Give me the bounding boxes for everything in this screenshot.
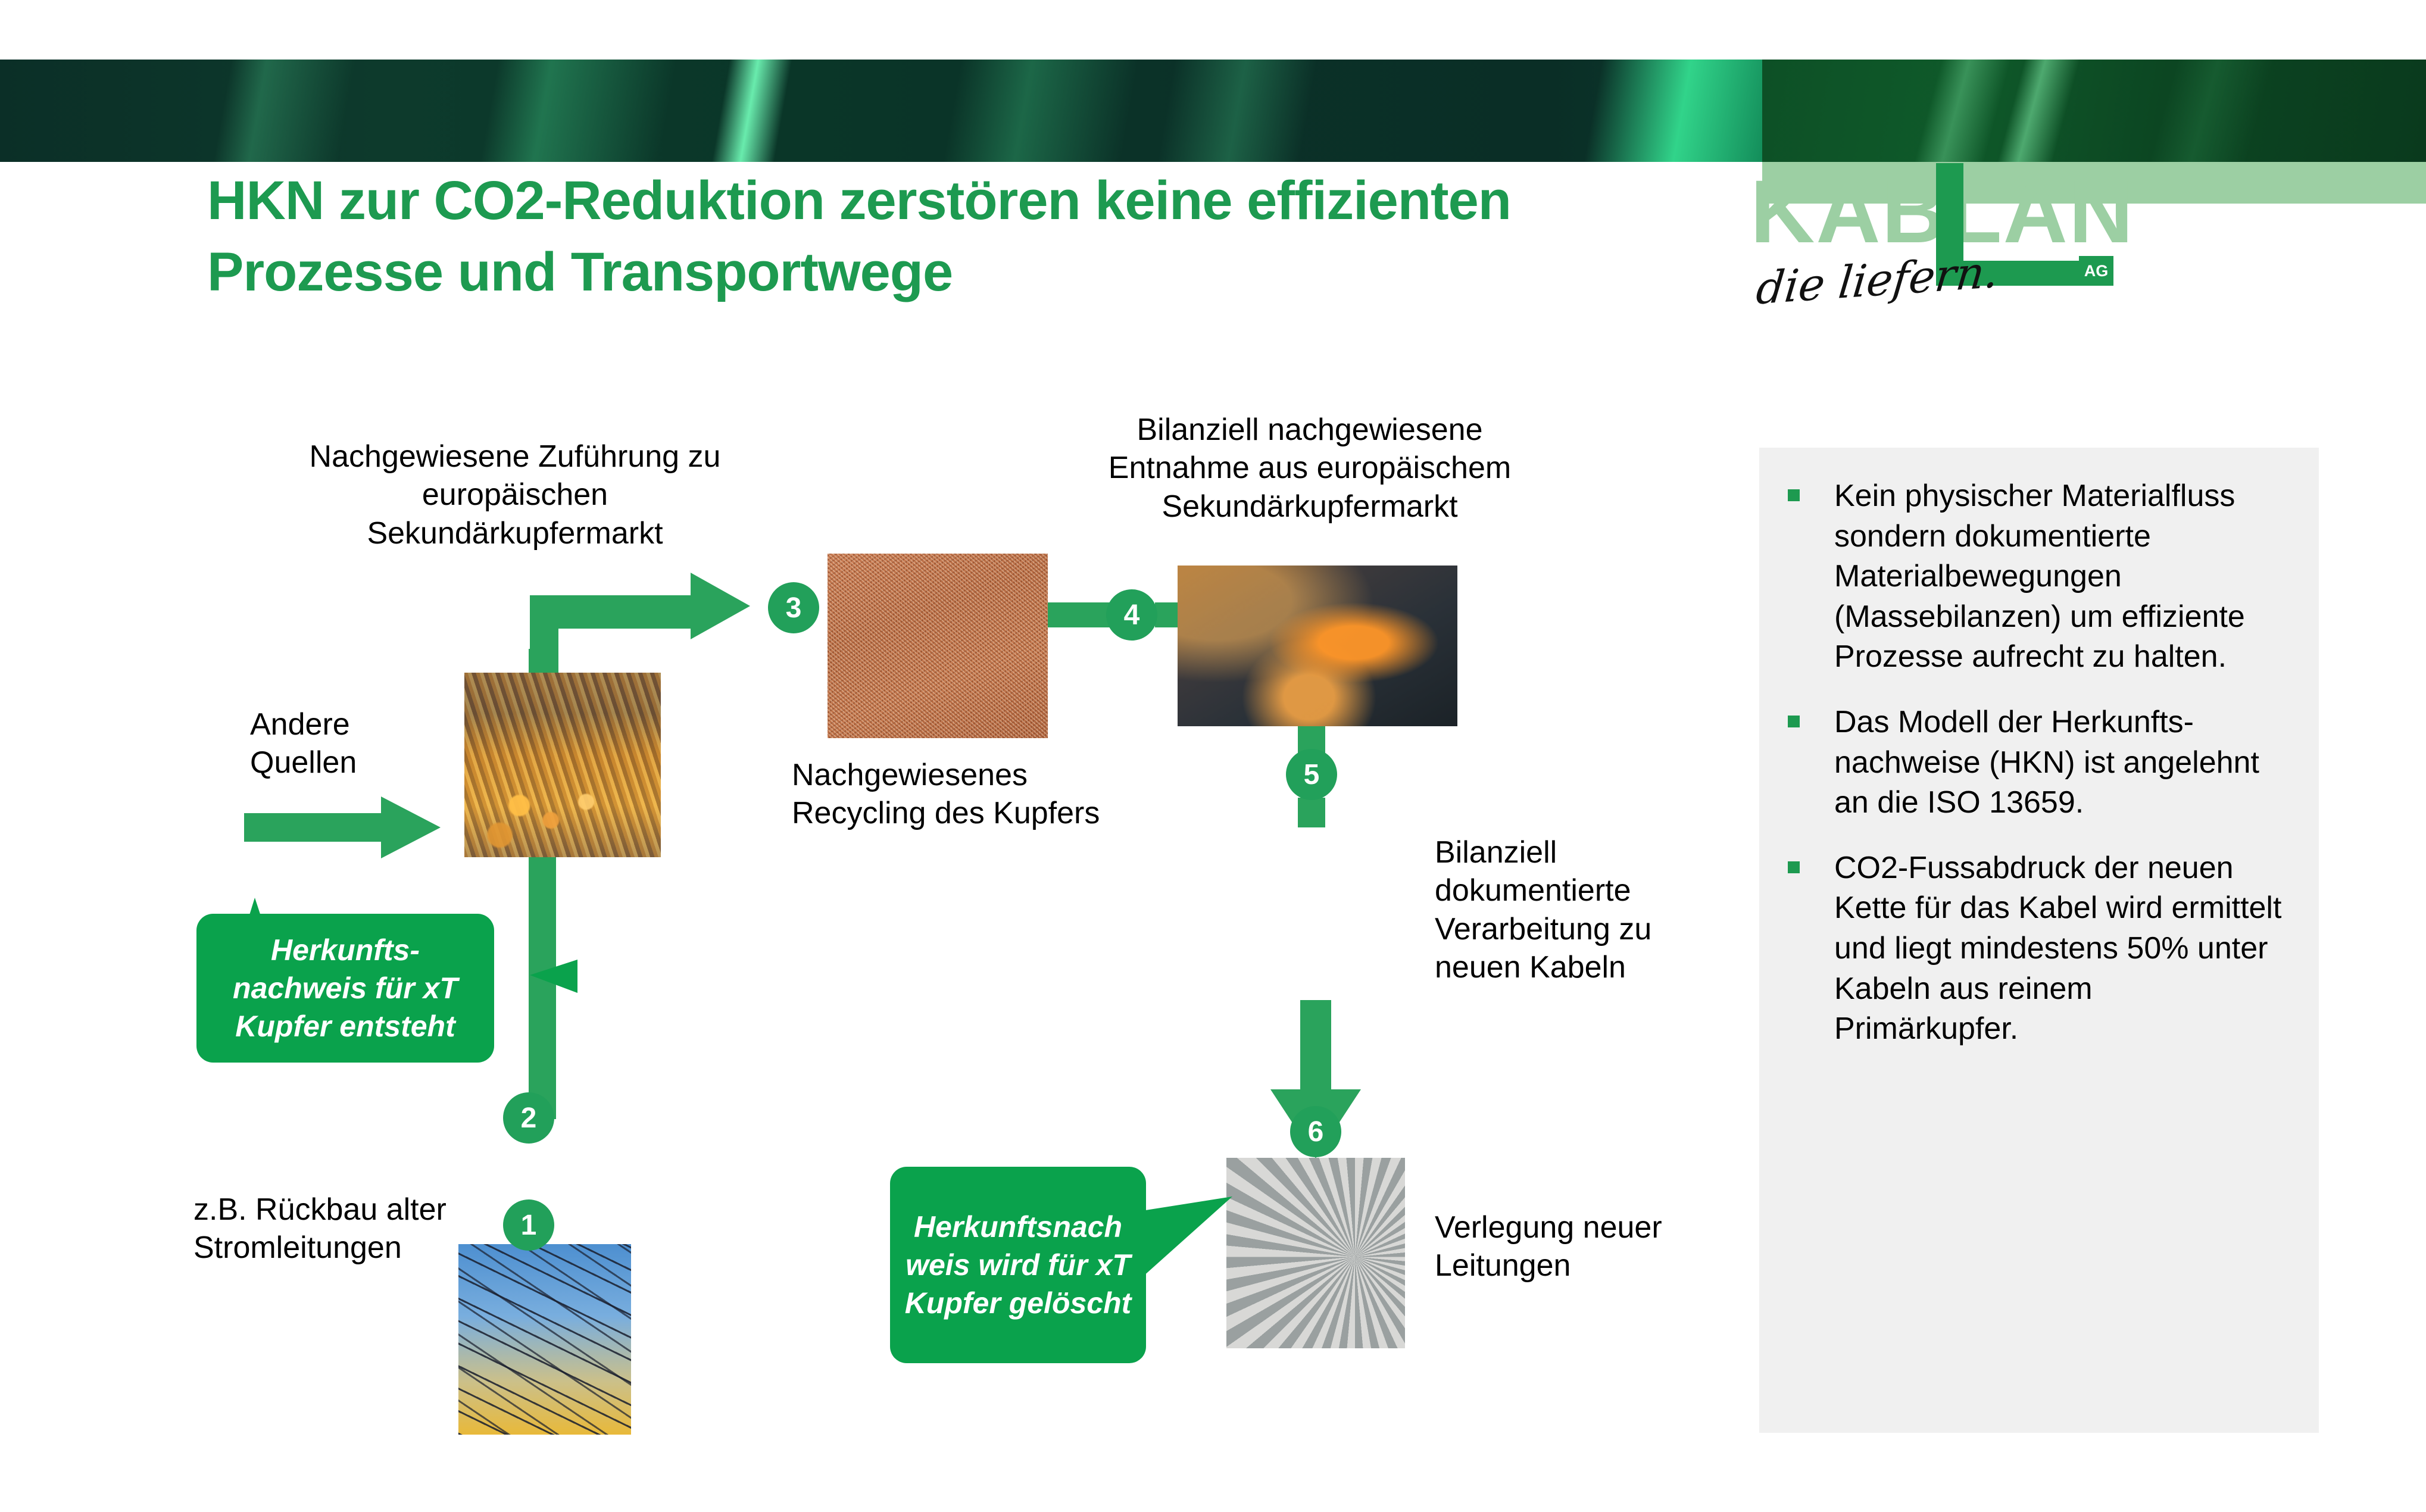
photo-copper-scrap (464, 673, 661, 857)
bullet-text: Das Modell der Herkunfts-nachweise (HKN)… (1834, 702, 2284, 823)
step-4-badge: 4 (1106, 589, 1157, 641)
photo-smelter (1178, 566, 1457, 726)
list-item: CO2-Fussabdruck der neuen Kette für das … (1788, 848, 2284, 1049)
bullet-square-icon (1788, 489, 1800, 501)
step-5-badge: 5 (1286, 749, 1337, 800)
label-processing: Bilanziell dokumentierte Verarbeitung zu… (1435, 833, 1709, 987)
label-source-example: z.B. Rückbau alter Stromleitungen (193, 1191, 479, 1267)
callout-create: Herkunfts-nachweis für xT Kupfer entsteh… (196, 914, 494, 1063)
label-other-sources: Andere Quellen (250, 705, 464, 782)
header-banner (0, 60, 2426, 162)
slide: HKN zur CO2-Reduktion zerstören keine ef… (0, 0, 2426, 1512)
bullet-text: Kein physischer Materialfluss sondern do… (1834, 476, 2284, 677)
list-item: Kein physischer Materialfluss sondern do… (1788, 476, 2284, 677)
photo-wire-spools (1226, 821, 1405, 1000)
callout-delete: Herkunftsnach weis wird für xT Kupfer ge… (890, 1167, 1146, 1363)
logo-ag-badge: AG (2079, 256, 2113, 286)
bullet-square-icon (1788, 861, 1800, 873)
step-1-badge: 1 (503, 1199, 554, 1251)
bullet-text: CO2-Fussabdruck der neuen Kette für das … (1834, 848, 2284, 1049)
callout-delete-pointer (1119, 1185, 1316, 1351)
banner-right-band (1762, 60, 2426, 162)
banner-left-band (0, 60, 1762, 162)
label-top-left: Nachgewiesene Zuführung zu europäischen … (280, 438, 750, 552)
list-item: Das Modell der Herkunfts-nachweise (HKN)… (1788, 702, 2284, 823)
page-title: HKN zur CO2-Reduktion zerstören keine ef… (207, 165, 1576, 308)
label-laying: Verlegung neuer Leitungen (1435, 1208, 1715, 1285)
step-6-badge: 6 (1290, 1106, 1341, 1157)
photo-power-lines (458, 1244, 631, 1435)
kablan-logo: KABLAN AG die liefern. (1750, 167, 2167, 315)
photo-copper-granulate (828, 554, 1048, 738)
label-top-right: Bilanziell nachgewiesene Entnahme aus eu… (1072, 411, 1548, 526)
info-panel: Kein physischer Materialfluss sondern do… (1759, 448, 2319, 1433)
bullet-square-icon (1788, 716, 1800, 727)
label-recycling: Nachgewiesenes Recycling des Kupfers (792, 756, 1101, 833)
step-3-badge: 3 (768, 582, 819, 633)
